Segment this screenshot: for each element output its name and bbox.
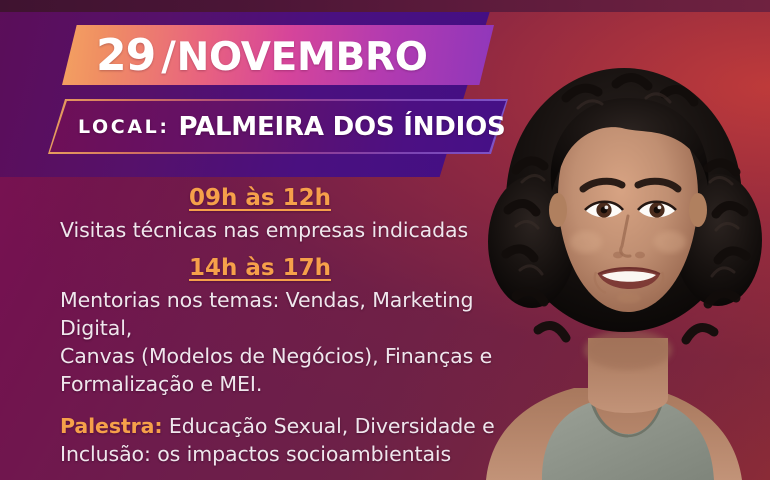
date-banner-text: 29/NOVEMBRO [62, 30, 428, 81]
schedule-desc-morning-line-1: Visitas técnicas nas empresas indicadas [60, 216, 520, 244]
date-separator: / [161, 34, 175, 80]
location-banner-text: LOCAL: PALMEIRA DOS ÍNDIOS [48, 99, 508, 154]
schedule-desc-afternoon-line-3: Formalização e MEI. [60, 370, 520, 398]
talk-line-1: Palestra: Educação Sexual, Diversidade e [60, 412, 520, 440]
schedule-desc-afternoon-line-2: Canvas (Modelos de Negócios), Finanças e [60, 342, 520, 370]
schedule-content: 09h às 12h Visitas técnicas nas empresas… [0, 185, 520, 468]
top-strip [0, 0, 770, 12]
date-banner: 29/NOVEMBRO [62, 25, 494, 85]
schedule-time-afternoon: 14h às 17h [60, 255, 460, 281]
talk-line-2: Inclusão: os impactos socioambientais [60, 440, 520, 468]
date-day: 29 [96, 30, 155, 81]
schedule-block-morning: 09h às 12h Visitas técnicas nas empresas… [60, 185, 520, 244]
talk-block: Palestra: Educação Sexual, Diversidade e… [60, 412, 520, 468]
talk-title-part-1: Educação Sexual, Diversidade e [162, 414, 494, 438]
date-month: NOVEMBRO [177, 35, 428, 80]
location-label: LOCAL: [78, 116, 170, 138]
schedule-desc-afternoon-line-1: Mentorias nos temas: Vendas, Marketing D… [60, 286, 520, 342]
talk-label: Palestra: [60, 414, 162, 438]
schedule-time-morning: 09h às 12h [60, 185, 460, 211]
schedule-block-afternoon: 14h às 17h Mentorias nos temas: Vendas, … [60, 255, 520, 398]
poster-canvas: 29/NOVEMBRO LOCAL: PALMEIRA DOS ÍNDIOS 0… [0, 0, 770, 480]
location-city: PALMEIRA DOS ÍNDIOS [179, 112, 506, 142]
location-banner: LOCAL: PALMEIRA DOS ÍNDIOS [48, 99, 508, 154]
